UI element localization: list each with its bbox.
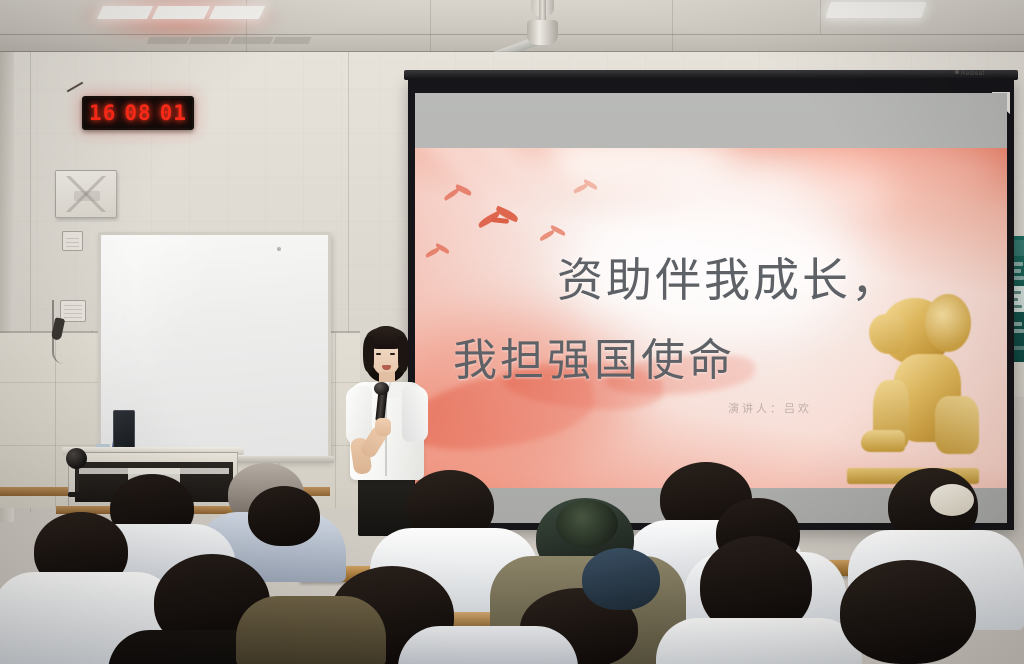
guardian-lion-statue: [839, 288, 991, 484]
projection-screen-surface: 资助伴我成长， 我担强国使命 演讲人：吕欢: [415, 93, 1007, 523]
ceiling-light-recess: [272, 37, 311, 44]
lion-paw: [861, 430, 905, 452]
attendee-shoulders: [656, 618, 862, 664]
ceiling-light-recess: [230, 37, 273, 44]
ceiling-light-panel: [825, 2, 926, 18]
whiteboard-magnet: [277, 247, 281, 251]
bird-icon: [425, 244, 451, 262]
presenter-hand: [375, 418, 391, 436]
ceiling-tile-line: [672, 0, 673, 52]
wall-switch-plate: [62, 231, 83, 251]
attendee-shoulders: [398, 626, 578, 664]
bird-icon: [477, 206, 521, 236]
wall-logo-text: Redleaf: [961, 71, 984, 77]
wall-speaker: [55, 170, 117, 218]
slide-title-line-1: 资助伴我成长，: [557, 244, 900, 310]
lion-hindleg: [935, 396, 979, 454]
attendee-hair-bun: [556, 500, 618, 548]
ceiling-light-panel: [152, 6, 210, 19]
led-wall-clock: 16 08 01: [82, 96, 194, 130]
ceiling-fan-rod: [539, 0, 546, 22]
attendee-head: [582, 548, 660, 610]
ceiling-tile-line: [820, 0, 821, 34]
bird-icon: [573, 180, 599, 198]
slide-title-line-2: 我担强国使命: [453, 324, 735, 388]
ceiling-tile-line: [430, 0, 431, 52]
presenter-hair-side: [398, 336, 409, 372]
attendee-shoulders: [236, 596, 386, 664]
presenter-hair-side: [363, 336, 374, 372]
presenter-eye: [390, 353, 395, 355]
bird-icon: [539, 226, 567, 246]
desk-microphone-base: [68, 492, 86, 497]
attendee-head: [840, 560, 976, 664]
desk-microphone-head: [66, 448, 87, 469]
lion-muzzle: [869, 314, 905, 354]
bird-icon: [443, 184, 473, 206]
ceiling-light-panel: [97, 6, 153, 19]
presenter-eye: [376, 353, 381, 355]
lecture-hall-photo: 16 08 01 Redleaf: [0, 0, 1024, 664]
ceiling-light-panel: [209, 6, 265, 19]
clock-hours: 16: [89, 101, 116, 125]
ceiling-fan-motor: [527, 20, 558, 45]
white-scrunchie: [930, 484, 974, 516]
wall-brand-logo: Redleaf: [955, 70, 984, 77]
ceiling-light-recess: [188, 37, 231, 44]
microphone-head: [374, 382, 389, 395]
ceiling-light-recess: [146, 37, 189, 44]
clock-seconds: 01: [160, 101, 187, 125]
presentation-slide: 资助伴我成长， 我担强国使命 演讲人：吕欢: [415, 148, 1007, 488]
lion-mane: [925, 294, 971, 352]
clock-minutes: 08: [124, 101, 151, 125]
presenter-sleeve: [402, 386, 428, 442]
slide-byline: 演讲人：吕欢: [728, 400, 812, 416]
attendee-head: [248, 486, 320, 546]
